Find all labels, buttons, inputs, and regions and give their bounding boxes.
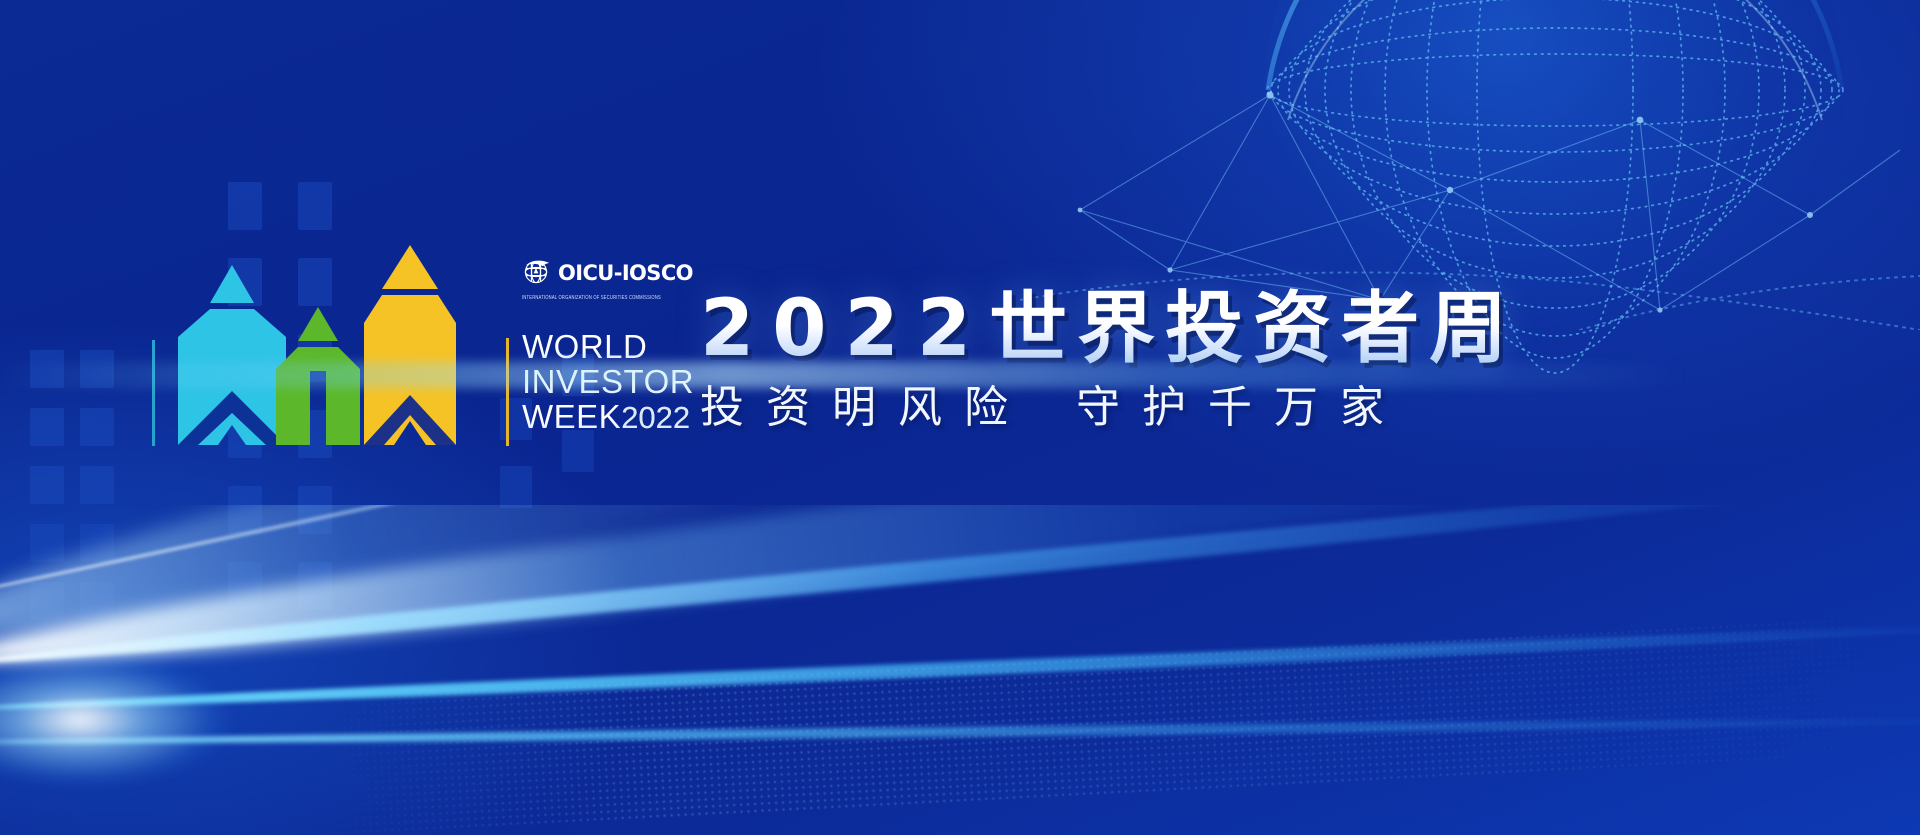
headline-title: 2022世界投资者周: [700, 286, 1517, 372]
wiw-year-text: 2022: [621, 400, 690, 435]
logo-divider: [506, 338, 509, 446]
subhead-right: 守护千万家: [1076, 382, 1406, 433]
headline-year: 2022: [700, 284, 989, 374]
wiw-wordmark: WORLD INVESTOR WEEK2022: [522, 329, 694, 435]
wiw-line-world: WORLD: [522, 329, 694, 364]
wiw-line-week-year: WEEK2022: [522, 399, 694, 435]
world-investor-week-banner: OICU-IOSCO INTERNATIONAL ORGANIZATION OF…: [0, 0, 1920, 835]
iosco-logo: OICU-IOSCO INTERNATIONAL ORGANIZATION OF…: [522, 257, 670, 299]
rocket-yellow: [364, 245, 456, 445]
light-streak-graphic: [0, 505, 1920, 835]
rocket-cyan: [178, 265, 286, 445]
subhead-slogan: 投资明风险守护千万家: [700, 380, 1406, 436]
iosco-subtitle: INTERNATIONAL ORGANIZATION OF SECURITIES…: [522, 294, 670, 300]
wiw-line-investor: INVESTOR: [522, 364, 694, 399]
wiw-week-text: WEEK: [522, 398, 621, 435]
world-investor-week-logo: OICU-IOSCO INTERNATIONAL ORGANIZATION OF…: [150, 245, 670, 455]
globe-icon: [522, 257, 552, 290]
rocket-icons-group: [150, 245, 500, 460]
subhead-left: 投资明风险: [700, 382, 1030, 433]
headline-chinese: 世界投资者周: [989, 284, 1517, 374]
rocket-green: [276, 307, 360, 445]
iosco-title: OICU-IOSCO: [558, 263, 693, 284]
network-nodes-graphic: [1020, 0, 1920, 330]
